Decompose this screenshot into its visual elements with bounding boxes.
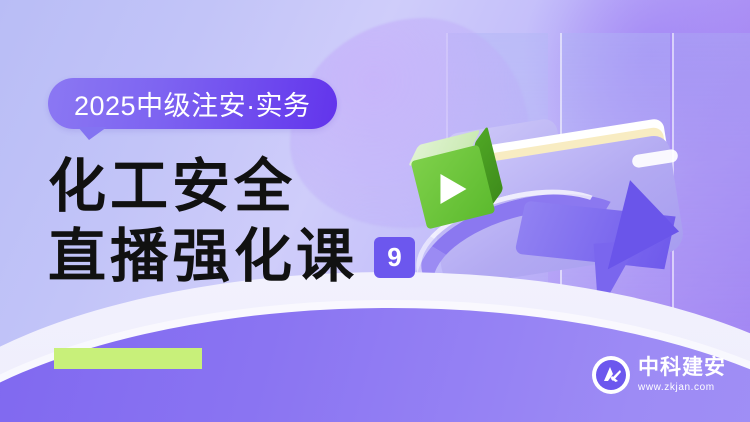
brand-name-cn: 中科建安 [638,357,726,378]
badge-tail-shape [78,127,107,140]
play-triangle-icon [440,174,466,204]
course-promo-banner: 2025中级注安·实务 化工安全 直播强化课 9 中科建安 www.zkjan.… [0,0,750,422]
brand-website-url: www.zkjan.com [638,383,726,393]
headline-underline-highlight [54,348,202,369]
course-category-label: 2025中级注安·实务 [74,84,311,123]
course-category-badge: 2025中级注安·实务 [48,78,337,129]
headline-block: 化工安全 直播强化课 9 [48,152,415,292]
episode-number-badge: 9 [374,237,415,278]
brand-logo: 中科建安 www.zkjan.com [592,356,726,394]
headline-line-1: 化工安全 [48,152,415,222]
headline-line-2-text: 直播强化课 [48,222,358,292]
brand-logo-mark-icon [592,356,630,394]
headline-line-2: 直播强化课 9 [48,222,415,292]
brand-logo-text: 中科建安 www.zkjan.com [638,357,726,393]
headline-line-1-text: 化工安全 [48,154,296,219]
